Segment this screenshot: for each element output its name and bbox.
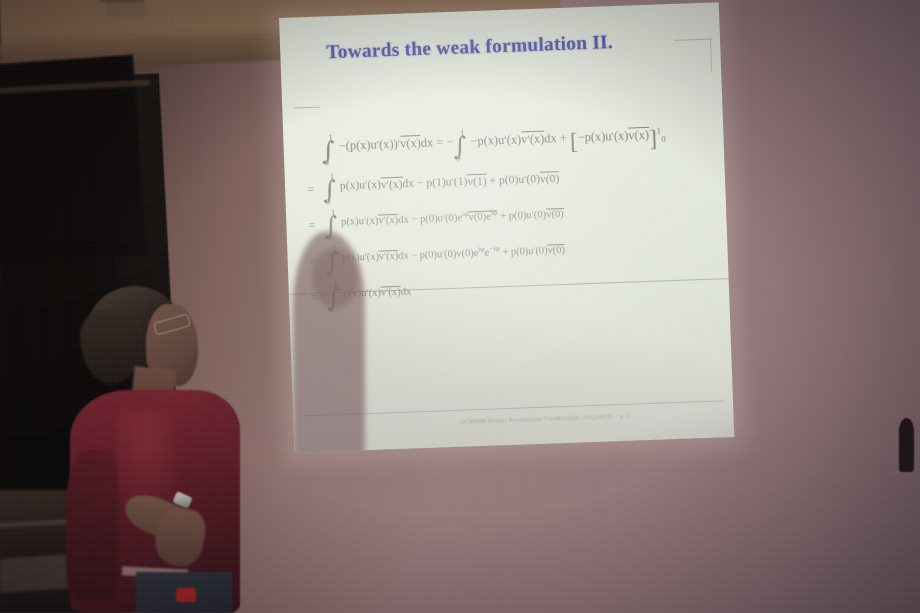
- equation-relation: [305, 133, 321, 143]
- equation-relation: =: [307, 173, 324, 198]
- presenter-hair-back: [80, 310, 142, 384]
- projection-screen: Towards the weak formulation II. ∫10 −(p…: [279, 2, 734, 452]
- slide-rule-bottom: [303, 400, 723, 416]
- equation-row: = ∫10 p(x)u′(x)v′(x)dx − p(1)u′(1)v(1) +…: [307, 159, 718, 198]
- equation-body: ∫10 −(p(x)u′(x))′v(x)dx = −∫10 −p(x)u′(x…: [321, 120, 666, 156]
- slide-title: Towards the weak formulation II.: [326, 32, 613, 64]
- equation-row: = ∫10 p(x)u′(x)v′(x)dx − p(0)u′(0)v(0)ei…: [309, 231, 720, 270]
- slide-rule-top-right: [674, 39, 712, 41]
- slide-footer: ACMMM Project Presentation Freudenstadt,…: [459, 413, 630, 426]
- slide-rule-top-right-vertical: [710, 39, 712, 73]
- wall-notice-frame: [136, 0, 176, 32]
- handheld-object: [176, 588, 196, 602]
- equation-body: ∫10 p(x)u′(x)v′(x)dx − p(1)u′(1)v(1) + p…: [323, 164, 560, 196]
- presenter-left-arm: [66, 450, 118, 600]
- equation-row: = ∫10 p(x)u′(x)v′(x)dx − p(0)u′(0)eiφv(0…: [308, 195, 719, 234]
- integral-icon: ∫10: [321, 142, 335, 160]
- equation-body: ∫10 p(x)u′(x)v′(x)dx − p(0)u′(0)eiφv(0)e…: [324, 200, 564, 232]
- slide-rule-top: [294, 107, 320, 109]
- slide-equation-block: ∫10 −(p(x)u′(x))′v(x)dx = −∫10 −p(x)u′(x…: [305, 118, 721, 317]
- integral-icon: ∫10: [453, 137, 467, 155]
- equation-row: ∫10 −(p(x)u′(x))′v(x)dx = −∫10 −p(x)u′(x…: [305, 118, 716, 157]
- equation-relation: =: [308, 209, 325, 234]
- integral-icon: ∫10: [323, 181, 337, 199]
- lecture-room-photo: Towards the weak formulation II. ∫10 −(p…: [0, 0, 920, 613]
- wall-mounted-object: [899, 418, 914, 472]
- equation-body: ∫10 p(x)u′(x)v′(x)dx − p(0)u′(0)v(0)eiφe…: [325, 236, 565, 268]
- presenter: [60, 280, 290, 613]
